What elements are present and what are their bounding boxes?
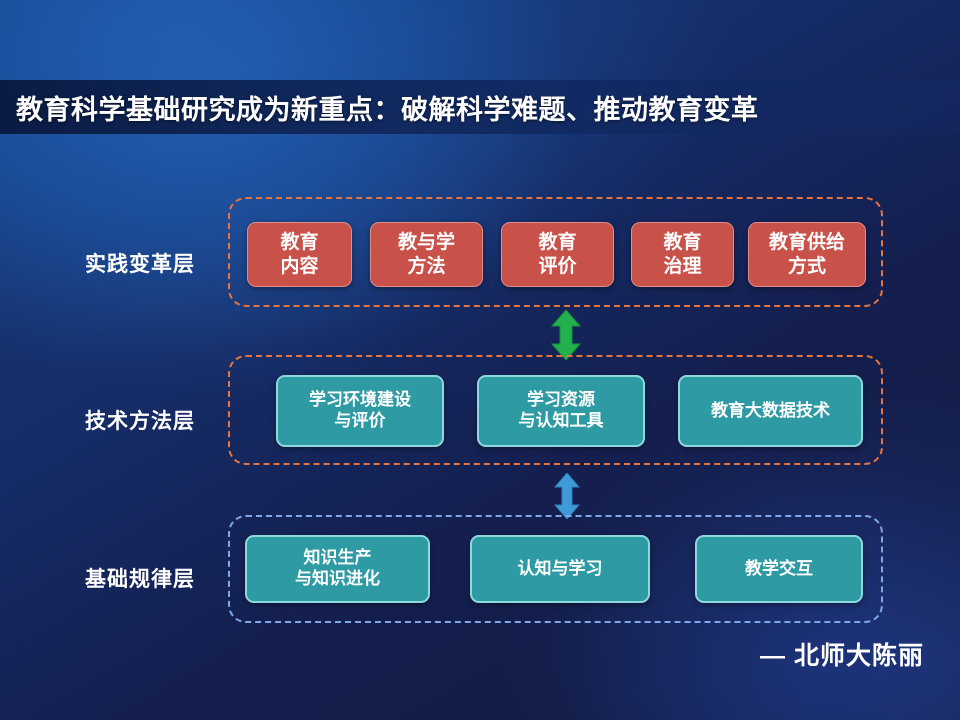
layer-label-base: 基础规律层 bbox=[60, 563, 220, 593]
card-tech-3[interactable]: 教育大数据技术 bbox=[678, 375, 863, 447]
layer-diagram: 实践变革层 教育 内容 教与学 方法 教育 评价 教育 治理 教育供给 方式 技… bbox=[0, 160, 960, 630]
card-tech-1[interactable]: 学习环境建设 与评价 bbox=[276, 375, 444, 447]
card-practice-5[interactable]: 教育供给 方式 bbox=[748, 222, 866, 287]
card-base-1[interactable]: 知识生产 与知识进化 bbox=[245, 535, 430, 603]
title-banner: 教育科学基础研究成为新重点：破解科学难题、推动教育变革 bbox=[0, 80, 960, 134]
layer-row-practice: 实践变革层 教育 内容 教与学 方法 教育 评价 教育 治理 教育供给 方式 bbox=[0, 160, 960, 295]
author-signature: — 北师大陈丽 bbox=[760, 636, 924, 672]
card-practice-3[interactable]: 教育 评价 bbox=[501, 222, 614, 287]
card-practice-1[interactable]: 教育 内容 bbox=[247, 222, 352, 287]
card-tech-2[interactable]: 学习资源 与认知工具 bbox=[477, 375, 645, 447]
card-practice-4[interactable]: 教育 治理 bbox=[631, 222, 734, 287]
layer-label-tech: 技术方法层 bbox=[60, 405, 220, 435]
layer-row-tech: 技术方法层 学习环境建设 与评价 学习资源 与认知工具 教育大数据技术 bbox=[0, 355, 960, 485]
practice-tech-arrow bbox=[548, 310, 584, 360]
card-practice-2[interactable]: 教与学 方法 bbox=[370, 222, 483, 287]
layer-label-practice: 实践变革层 bbox=[60, 248, 220, 278]
layer-row-base: 基础规律层 知识生产 与知识进化 认知与学习 教学交互 bbox=[0, 515, 960, 645]
slide-canvas: 教育科学基础研究成为新重点：破解科学难题、推动教育变革 实践变革层 教育 内容 … bbox=[0, 0, 960, 720]
card-base-2[interactable]: 认知与学习 bbox=[470, 535, 650, 603]
tech-base-arrow bbox=[552, 473, 582, 519]
page-title: 教育科学基础研究成为新重点：破解科学难题、推动教育变革 bbox=[0, 88, 759, 127]
card-base-3[interactable]: 教学交互 bbox=[695, 535, 863, 603]
